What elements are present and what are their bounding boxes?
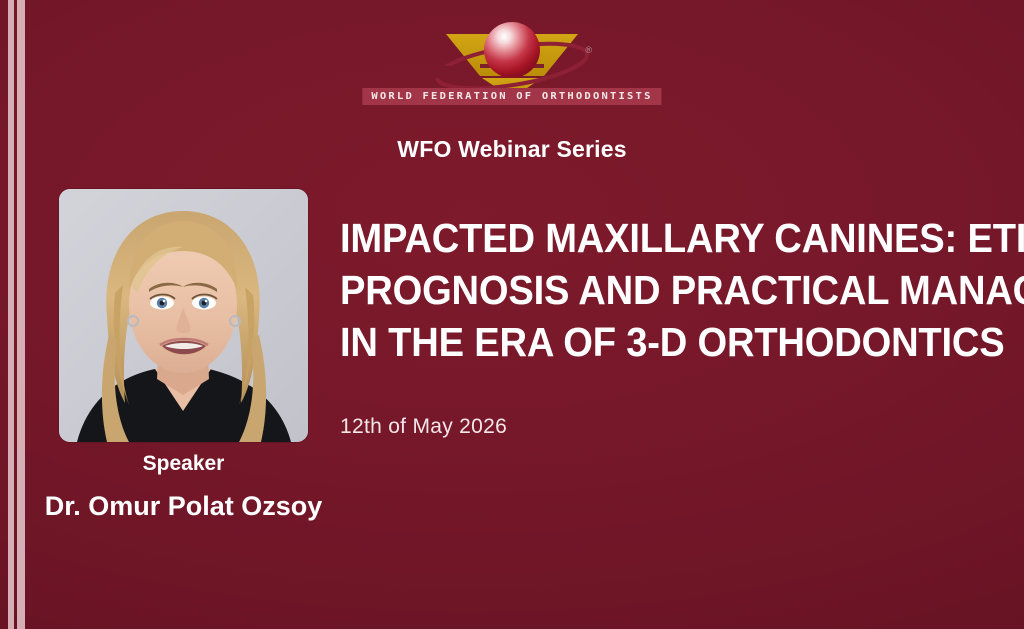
talk-title: IMPACTED MAXILLARY CANINES: ETIOLOGY, PR… [340,212,1000,368]
title-line-1: IMPACTED MAXILLARY CANINES: ETIOLOGY, [340,212,954,264]
logo-banner: WORLD FEDERATION OF ORTHODONTISTS [362,88,661,105]
speaker-portrait-photo [59,189,308,442]
stripe-outer [17,0,25,629]
speaker-block: Speaker Dr. Omur Polat Ozsoy [59,452,308,522]
speaker-role-label: Speaker [59,452,308,475]
registered-trademark-icon: ® [585,46,592,55]
logo-banner-text: WORLD FEDERATION OF ORTHODONTISTS [371,91,652,101]
event-date: 12th of May 2026 [340,415,507,439]
wfo-logo-icon: ® WORLD FEDERATION OF ORTHODONTISTS [424,20,600,98]
stripe-inner [8,0,14,629]
title-line-3: IN THE ERA OF 3-D ORTHODONTICS [340,316,954,368]
left-stripe-decoration [0,0,26,629]
speaker-name: Dr. Omur Polat Ozsoy [27,491,340,522]
title-line-2: PROGNOSIS AND PRACTICAL MANAGEMENT [340,264,954,316]
webinar-poster: ® WORLD FEDERATION OF ORTHODONTISTS WFO … [0,0,1024,629]
brand-logo-block: ® WORLD FEDERATION OF ORTHODONTISTS [0,20,1024,116]
series-label: WFO Webinar Series [0,136,1024,163]
